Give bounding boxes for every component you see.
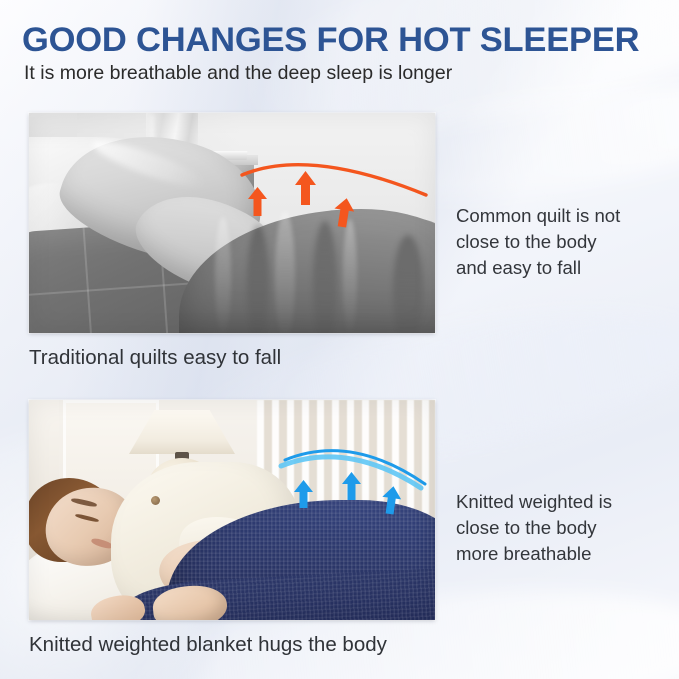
quilt-fold: [275, 211, 295, 333]
quilt-seam: [83, 228, 94, 333]
quilt-shadow: [313, 221, 337, 333]
page-title: GOOD CHANGES FOR HOT SLEEPER: [22, 23, 639, 58]
photo-traditional-quilt: [29, 113, 435, 333]
gray-quilt: [179, 209, 435, 333]
panel-caption-knitted: Knitted weighted blanket hugs the body: [29, 635, 387, 656]
panel-description-traditional: Common quilt is not close to the body an…: [456, 203, 620, 281]
panel-description-knitted: Knitted weighted is close to the body mo…: [456, 489, 612, 567]
panel-caption-traditional: Traditional quilts easy to fall: [29, 348, 281, 369]
shirt-button: [151, 496, 160, 505]
quilt-fold: [343, 219, 357, 333]
quilt-shadow: [393, 235, 423, 333]
photo-scene: [29, 113, 435, 333]
page-subtitle: It is more breathable and the deep sleep…: [24, 64, 452, 84]
quilt-fold: [215, 217, 231, 333]
photo-scene: [29, 400, 435, 620]
photo-knitted-blanket: [29, 400, 435, 620]
quilt-shadow: [247, 225, 269, 333]
infographic-page: GOOD CHANGES FOR HOT SLEEPER It is more …: [0, 0, 679, 679]
